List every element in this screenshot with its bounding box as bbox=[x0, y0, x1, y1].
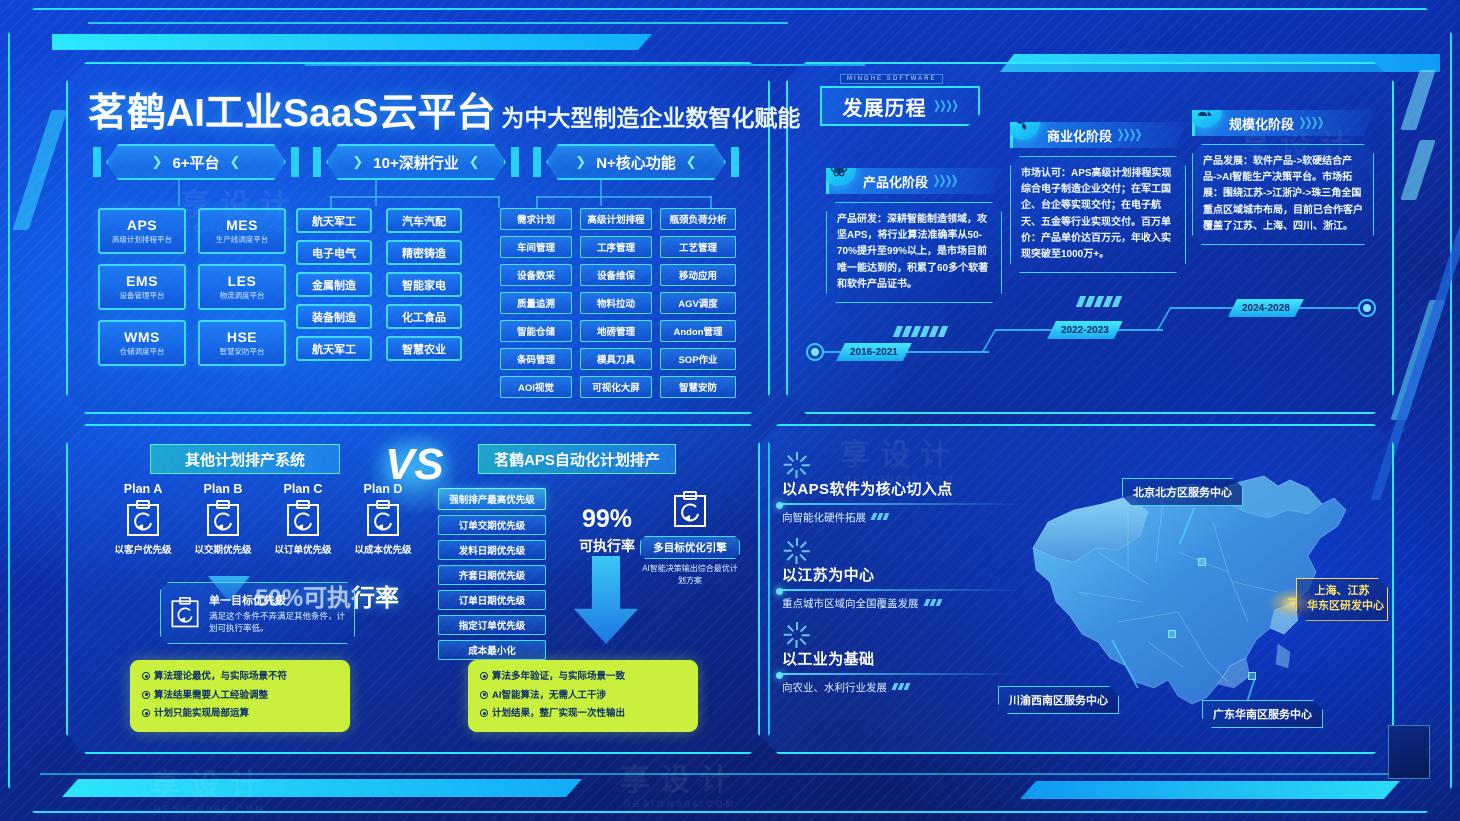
stage-body: 产品发展：软件产品->软硬结合产品->AI智能生产决策平台。市场拓展：围绕江苏-… bbox=[1192, 144, 1374, 245]
single-goal-title: 单一目标优先级 bbox=[209, 592, 346, 608]
list-item: 算法结果需要人工经验调整 bbox=[142, 687, 338, 706]
bullet-icon bbox=[142, 672, 150, 680]
function-box[interactable]: 工艺管理 bbox=[660, 236, 736, 258]
platform-abbr: APS bbox=[127, 217, 157, 233]
timeline-node-start bbox=[806, 343, 824, 361]
connector bbox=[178, 180, 180, 206]
list-item: 算法多年验证，与实际场景一致 bbox=[480, 668, 686, 687]
industry-box[interactable]: 装备制造 bbox=[296, 304, 372, 329]
function-box[interactable]: 可视化大屏 bbox=[580, 376, 652, 398]
spark-icon bbox=[784, 622, 810, 648]
timeline-pill[interactable]: 2024-2028 bbox=[1228, 299, 1304, 317]
function-box-grid: 需求计划 高级计划排程 瓶颈负荷分析 车间管理 工序管理 工艺管理 设备数采 设… bbox=[500, 208, 736, 398]
bracket-left-icon bbox=[313, 147, 321, 177]
section-head-platform[interactable]: ❯ 6+平台 ❮ bbox=[88, 144, 308, 180]
bullet-text: 算法理论最优，与实际场景不符 bbox=[154, 671, 287, 682]
chevron-left-icon: ❮ bbox=[469, 154, 480, 170]
side-stripe-right-1 bbox=[1400, 70, 1435, 130]
right-rate-label: 可执行率 bbox=[564, 536, 650, 556]
bracket-left-icon bbox=[533, 147, 541, 177]
priority-item[interactable]: 指定订单优先级 bbox=[438, 615, 546, 635]
hatch-icon bbox=[925, 599, 941, 606]
bullet-text: AI智能算法，无需人工干涉 bbox=[492, 690, 606, 701]
hatch-icon bbox=[872, 513, 888, 520]
priority-item[interactable]: 订单日期优先级 bbox=[438, 590, 546, 610]
bullet-dot-icon bbox=[776, 588, 783, 595]
bullet-icon bbox=[480, 691, 488, 699]
function-box[interactable]: AGV调度 bbox=[660, 292, 736, 314]
plan-desc: 以交期优先级 bbox=[186, 542, 260, 556]
priority-item[interactable]: 强制排产最高优先级 bbox=[438, 488, 546, 510]
map-label-chuanyu[interactable]: 川渝西南区服务中心 bbox=[998, 686, 1119, 714]
function-box[interactable]: 瓶颈负荷分析 bbox=[660, 208, 736, 230]
left-bullet-list: 算法理论最优，与实际场景不符 算法结果需要人工经验调整 计划只能实现局部运算 bbox=[130, 660, 350, 732]
platform-abbr: LES bbox=[228, 273, 257, 289]
engine-desc: AI智能决策输出综合最优计划方案 bbox=[640, 563, 740, 586]
side-stripe-left bbox=[13, 110, 68, 230]
timeline-pill[interactable]: 2016-2021 bbox=[836, 343, 912, 361]
industry-box[interactable]: 金属制造 bbox=[296, 272, 372, 297]
map-label-line1: 上海、江苏 bbox=[1307, 584, 1377, 599]
bullet-text: 算法多年验证，与实际场景一致 bbox=[492, 671, 625, 682]
spark-icon bbox=[784, 538, 810, 564]
south-sea-inset bbox=[1388, 725, 1430, 779]
map-marker bbox=[1168, 630, 1176, 638]
strategy-item: 以APS软件为核心切入点 向智能化硬件拓展 bbox=[782, 478, 1022, 525]
strategy-item: 以江苏为中心 重点城市区域向全国覆盖发展 bbox=[782, 564, 1022, 611]
stage-header: 规模化阶段 bbox=[1192, 110, 1374, 136]
function-box[interactable]: 地磅管理 bbox=[580, 320, 652, 342]
priority-item[interactable]: 齐套日期优先级 bbox=[438, 565, 546, 585]
function-box[interactable]: 模具刀具 bbox=[580, 348, 652, 370]
section-label: 10+深耕行业 bbox=[373, 152, 458, 173]
watermark-5: 享设计 DESIGN006.COM bbox=[620, 755, 740, 809]
bullet-icon bbox=[142, 709, 150, 717]
bullet-text: 算法结果需要人工经验调整 bbox=[154, 690, 268, 701]
function-box[interactable]: SOP作业 bbox=[660, 348, 736, 370]
list-item: 计划只能实现局部运算 bbox=[142, 705, 338, 724]
bullet-icon bbox=[480, 672, 488, 680]
platform-box[interactable]: APS 高级计划排程平台 bbox=[98, 208, 186, 254]
bullet-dot-icon bbox=[776, 672, 783, 679]
side-stripe-right-2 bbox=[1400, 140, 1435, 200]
clipboard-refresh-icon bbox=[124, 499, 162, 539]
connector bbox=[536, 196, 538, 208]
priority-item[interactable]: 成本最小化 bbox=[438, 640, 546, 660]
plan-label: Plan A bbox=[106, 482, 180, 496]
map-marker bbox=[1248, 672, 1256, 680]
stage-text: 产品发展：软件产品->软硬结合产品->AI智能生产决策平台。市场拓展：围绕江苏-… bbox=[1203, 154, 1363, 235]
industry-box[interactable]: 电子电气 bbox=[296, 240, 372, 265]
stage-name: 商业化阶段 bbox=[1047, 126, 1112, 145]
map-marker bbox=[1198, 558, 1206, 566]
timeline-node-end bbox=[1358, 299, 1376, 317]
bracket-right-icon bbox=[291, 147, 299, 177]
right-bullet-list: 算法多年验证，与实际场景一致 AI智能算法，无需人工干涉 计划结果，整厂实现一次… bbox=[468, 660, 698, 732]
platform-box[interactable]: EMS 设备管理平台 bbox=[98, 264, 186, 310]
bullet-text: 计划结果，整厂实现一次性输出 bbox=[492, 708, 625, 719]
strategy-head: 以江苏为中心 bbox=[782, 564, 1022, 585]
strategy-head: 以APS软件为核心切入点 bbox=[782, 478, 1022, 499]
strategy-sub: 重点城市区域向全国覆盖发展 bbox=[782, 598, 919, 610]
engine-title: 多目标优化引擎 bbox=[640, 536, 740, 559]
clipboard-refresh-icon bbox=[204, 499, 242, 539]
industry-box[interactable]: 化工食品 bbox=[386, 304, 462, 329]
priority-item[interactable]: 订单交期优先级 bbox=[438, 515, 546, 535]
function-box[interactable]: 质量追溯 bbox=[500, 292, 572, 314]
chevron-right-icon: ❯ bbox=[152, 154, 163, 170]
function-box[interactable]: 智慧安防 bbox=[660, 376, 736, 398]
list-item: 计划结果，整厂实现一次性输出 bbox=[480, 705, 686, 724]
bullet-icon bbox=[480, 709, 488, 717]
platform-box[interactable]: LES 物流调度平台 bbox=[198, 264, 286, 310]
platform-desc: 生产线调度平台 bbox=[216, 234, 269, 245]
platform-desc: 智慧安防平台 bbox=[220, 346, 265, 357]
timeline-hatch bbox=[895, 326, 946, 337]
function-box[interactable]: 高级计划排程 bbox=[580, 208, 652, 230]
clipboard-refresh-icon bbox=[671, 490, 709, 530]
section-head-function[interactable]: ❯ N+核心功能 ❮ bbox=[528, 144, 748, 180]
title-sub: 为中大型制造企业数智化赋能 bbox=[501, 99, 800, 133]
section-label: N+核心功能 bbox=[596, 152, 676, 173]
right-rate: 99% 可执行率 bbox=[564, 505, 650, 556]
stage-header: 产品化阶段 bbox=[826, 168, 1002, 194]
platform-desc: 设备管理平台 bbox=[120, 290, 165, 301]
connector bbox=[600, 180, 602, 206]
divider bbox=[782, 673, 1022, 675]
plan-desc: 以订单优先级 bbox=[266, 542, 340, 556]
compare-title-right: 茗鹤APS自动化计划排产 bbox=[478, 444, 676, 474]
footer-deco-strip-right bbox=[1020, 781, 1400, 799]
section-head-row: ❯ 6+平台 ❮ ❯ 10+深耕行业 ❮ ❯ N+核心功能 ❮ bbox=[88, 144, 748, 180]
bracket-right-icon bbox=[511, 147, 519, 177]
industry-box-grid: 航天军工 汽车汽配 电子电气 精密铸造 金属制造 智能家电 装备制造 化工食品 … bbox=[296, 208, 462, 361]
stage-body: 市场认可：APS高级计划排程实现综合电子制造企业交付；在军工国企、台企等实现交付… bbox=[1010, 156, 1186, 273]
history-title-box: 发展历程 bbox=[820, 86, 980, 126]
function-box[interactable]: 需求计划 bbox=[500, 208, 572, 230]
list-item: AI智能算法，无需人工干涉 bbox=[480, 687, 686, 706]
stage-body: 产品研发：深耕智能制造领域，攻坚APS，将行业算法准确率从50-70%提升至99… bbox=[826, 202, 1002, 303]
map-label-shanghai[interactable]: 上海、江苏 华东区研发中心 bbox=[1296, 578, 1388, 621]
bullet-dot-icon bbox=[776, 502, 783, 509]
platform-abbr: HSE bbox=[227, 329, 257, 345]
platform-abbr: EMS bbox=[126, 273, 158, 289]
clipboard-refresh-icon bbox=[169, 596, 201, 630]
bracket-right-icon bbox=[731, 147, 739, 177]
bullet-icon bbox=[142, 691, 150, 699]
plan-desc: 以成本优先级 bbox=[346, 542, 420, 556]
industry-box[interactable]: 智能家电 bbox=[386, 272, 462, 297]
header-deco-line-1 bbox=[88, 22, 788, 24]
chevron-left-icon: ❮ bbox=[686, 154, 697, 170]
section-head-industry[interactable]: ❯ 10+深耕行业 ❮ bbox=[308, 144, 528, 180]
function-box[interactable]: 车间管理 bbox=[500, 236, 572, 258]
spark-icon bbox=[784, 452, 810, 478]
connector bbox=[710, 196, 712, 208]
hatch-icon bbox=[893, 683, 909, 690]
footer-deco-strip-left bbox=[62, 779, 582, 797]
plan-label: Plan B bbox=[186, 482, 260, 496]
timeline-pill[interactable]: 2022-2023 bbox=[1047, 321, 1123, 339]
chevron-right-icon: ❯ bbox=[575, 154, 586, 170]
priority-item[interactable]: 发料日期优先级 bbox=[438, 540, 546, 560]
timeline-hatch bbox=[1078, 296, 1120, 307]
platform-abbr: MES bbox=[226, 217, 258, 233]
function-box[interactable]: AOI视觉 bbox=[500, 376, 572, 398]
stage-text: 产品研发：深耕智能制造领域，攻坚APS，将行业算法准确率从50-70%提升至99… bbox=[837, 212, 991, 293]
function-box[interactable]: Andon管理 bbox=[660, 320, 736, 342]
platform-abbr: WMS bbox=[124, 329, 160, 345]
chevron-left-icon: ❮ bbox=[230, 154, 241, 170]
history-stage: 商业化阶段 市场认可：APS高级计划排程实现综合电子制造企业交付；在军工国企、台… bbox=[1010, 122, 1186, 273]
industry-box[interactable]: 航天军工 bbox=[296, 336, 372, 361]
function-box[interactable]: 移动应用 bbox=[660, 264, 736, 286]
compare-title-left: 其他计划排产系统 bbox=[150, 444, 340, 474]
chevron-arrows-icon bbox=[1300, 117, 1323, 129]
chevron-arrows-icon bbox=[1118, 129, 1141, 141]
strategy-sub: 向智能化硬件拓展 bbox=[782, 512, 866, 524]
page-title: 茗鹤AI工业SaaS云平台 为中大型制造企业数智化赋能 bbox=[88, 82, 800, 138]
vs-label: VS bbox=[385, 440, 444, 490]
chevron-arrows-icon bbox=[934, 175, 957, 187]
list-item: 算法理论最优，与实际场景不符 bbox=[142, 668, 338, 687]
footer-deco-line bbox=[40, 773, 1420, 775]
industry-box[interactable]: 汽车汽配 bbox=[386, 208, 462, 233]
map-label-guangdong[interactable]: 广东华南区服务中心 bbox=[1202, 700, 1323, 728]
chevron-arrows-icon bbox=[935, 100, 958, 112]
plan-label: Plan C bbox=[266, 482, 340, 496]
header-deco-strip bbox=[52, 34, 652, 50]
bullet-text: 计划只能实现局部运算 bbox=[154, 708, 249, 719]
platform-desc: 高级计划排程平台 bbox=[112, 234, 172, 245]
strategy-head: 以工业为基础 bbox=[782, 648, 1022, 669]
divider bbox=[782, 589, 1022, 591]
function-box[interactable]: 条码管理 bbox=[500, 348, 572, 370]
history-title: 发展历程 bbox=[843, 92, 927, 121]
title-main: 茗鹤AI工业SaaS云平台 bbox=[88, 82, 495, 138]
stage-text: 市场认可：APS高级计划排程实现综合电子制造企业交付；在军工国企、台企等实现交付… bbox=[1021, 166, 1175, 263]
industry-box[interactable]: 航天军工 bbox=[296, 208, 372, 233]
industry-box[interactable]: 智慧农业 bbox=[386, 336, 462, 361]
right-rate-number: 99% bbox=[564, 505, 650, 534]
stage-header: 商业化阶段 bbox=[1010, 122, 1186, 148]
section-label: 6+平台 bbox=[172, 152, 219, 173]
platform-box[interactable]: WMS 仓储调度平台 bbox=[98, 320, 186, 366]
plan-item: Plan B 以交期优先级 bbox=[186, 482, 260, 556]
connector bbox=[498, 196, 500, 208]
divider bbox=[782, 503, 1022, 505]
plan-item: Plan D 以成本优先级 bbox=[346, 482, 420, 556]
history-stage: 产品化阶段 产品研发：深耕智能制造领域，攻坚APS，将行业算法准确率从50-70… bbox=[826, 168, 1002, 303]
priority-list: 强制排产最高优先级 订单交期优先级 发料日期优先级 齐套日期优先级 订单日期优先… bbox=[438, 488, 546, 665]
clipboard-refresh-icon bbox=[284, 499, 322, 539]
function-box[interactable]: 设备维保 bbox=[580, 264, 652, 286]
platform-box[interactable]: MES 生产线调度平台 bbox=[198, 208, 286, 254]
function-box[interactable]: 物料拉动 bbox=[580, 292, 652, 314]
single-goal-desc: 满足这个条件不弄满足其他条件，计划可执行率低。 bbox=[209, 610, 346, 635]
strategy-item: 以工业为基础 向农业、水利行业发展 bbox=[782, 648, 1022, 695]
industry-box[interactable]: 精密铸造 bbox=[386, 240, 462, 265]
clipboard-refresh-icon bbox=[364, 499, 402, 539]
connector bbox=[375, 180, 377, 206]
strategy-sub: 向农业、水利行业发展 bbox=[782, 682, 887, 694]
platform-box[interactable]: HSE 智慧安防平台 bbox=[198, 320, 286, 366]
history-eyebrow: MINGHE SOFTWARE bbox=[840, 74, 943, 84]
plan-item: Plan C 以订单优先级 bbox=[266, 482, 340, 556]
function-box[interactable]: 工序管理 bbox=[580, 236, 652, 258]
history-stage: 规模化阶段 产品发展：软件产品->软硬结合产品->AI智能生产决策平台。市场拓展… bbox=[1192, 110, 1374, 245]
function-box[interactable]: 智能仓储 bbox=[500, 320, 572, 342]
map-label-line2: 华东区研发中心 bbox=[1307, 599, 1377, 614]
platform-desc: 仓储调度平台 bbox=[120, 346, 165, 357]
plan-desc: 以客户优先级 bbox=[106, 542, 180, 556]
connector bbox=[330, 196, 332, 208]
engine-block: 多目标优化引擎 AI智能决策输出综合最优计划方案 bbox=[640, 490, 740, 586]
stage-name: 规模化阶段 bbox=[1229, 114, 1294, 133]
chevron-right-icon: ❯ bbox=[352, 154, 363, 170]
map-label-beijing[interactable]: 北京北方区服务中心 bbox=[1122, 478, 1243, 506]
function-box[interactable]: 设备数采 bbox=[500, 264, 572, 286]
bracket-left-icon bbox=[93, 147, 101, 177]
single-goal-box: 单一目标优先级 满足这个条件不弄满足其他条件，计划可执行率低。 bbox=[160, 582, 355, 644]
platform-box-grid: APS 高级计划排程平台 MES 生产线调度平台 EMS 设备管理平台 LES … bbox=[98, 208, 286, 366]
stage-name: 产品化阶段 bbox=[863, 172, 928, 191]
plan-item: Plan A 以客户优先级 bbox=[106, 482, 180, 556]
connector bbox=[536, 196, 712, 198]
connector bbox=[330, 196, 500, 198]
platform-desc: 物流调度平台 bbox=[220, 290, 265, 301]
